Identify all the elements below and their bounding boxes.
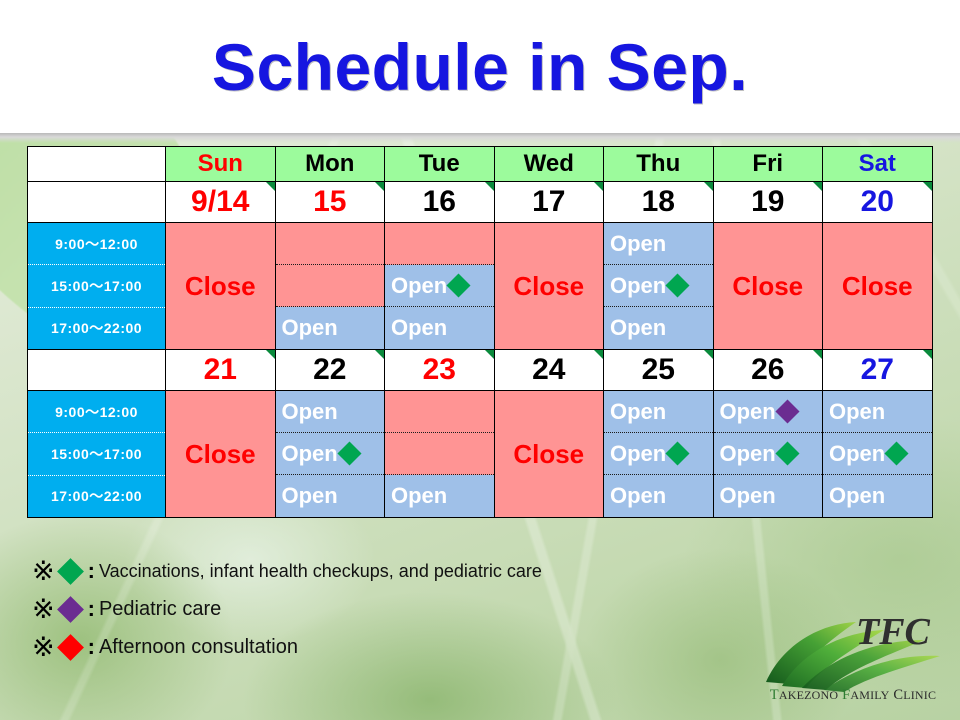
legend-row-1: ※:Vaccinations, infant health checkups, … <box>32 552 692 590</box>
corner-marker-icon <box>813 182 822 191</box>
slot-3-open[interactable]: Open <box>714 475 823 517</box>
logo-name-amily: AMILY <box>850 688 889 702</box>
clinic-logo: TFC TAKEZONO FAMILY CLINIC <box>760 606 946 710</box>
date-cell-26: 26 <box>713 350 823 391</box>
slide-canvas: Schedule in Sep. SunMonTueWedThuFriSat9/… <box>0 0 960 720</box>
schedule-cell-mon-22[interactable]: OpenOpenOpen <box>275 391 385 518</box>
slot-3-open[interactable]: Open <box>276 307 385 349</box>
date-label: 27 <box>861 353 894 386</box>
date-cell-22: 22 <box>275 350 385 391</box>
date-label: 23 <box>423 353 456 386</box>
date-cell-17: 17 <box>494 182 604 223</box>
schedule-cell-mon-15[interactable]: Open <box>275 223 385 350</box>
slot-label: Open <box>720 401 776 423</box>
schedule-cell-thu-25[interactable]: OpenOpenOpen <box>604 391 714 518</box>
slot-label: Open <box>282 443 338 465</box>
slot-label: Open <box>610 317 666 339</box>
legend-row-3: ※:Afternoon consultation <box>32 628 692 666</box>
schedule-cell-wed-17[interactable]: Close <box>494 223 604 350</box>
time-label-1: 9:00〜12:00 <box>28 391 165 433</box>
slot-label: Open <box>391 485 447 507</box>
corner-marker-icon <box>375 350 384 359</box>
time-label-2: 15:00〜17:00 <box>28 265 165 307</box>
corner-marker-icon <box>485 350 494 359</box>
logo-name-c: C <box>893 687 903 703</box>
corner-marker-icon <box>704 182 713 191</box>
slot-2-open[interactable]: Open <box>276 433 385 475</box>
diamond-green-icon <box>885 441 909 465</box>
reference-mark-icon: ※ <box>32 558 55 585</box>
logo-clinic-name: TAKEZONO FAMILY CLINIC <box>760 687 946 704</box>
corner-marker-icon <box>485 182 494 191</box>
slot-label: Open <box>829 443 885 465</box>
corner-marker-icon <box>375 182 384 191</box>
slot-2-open[interactable]: Open <box>714 433 823 475</box>
slot-2-open[interactable]: Open <box>604 265 713 307</box>
reference-mark-icon: ※ <box>32 596 55 623</box>
corner-marker-icon <box>594 182 603 191</box>
legend-row-2: ※:Pediatric care <box>32 590 692 628</box>
corner-marker-icon <box>923 350 932 359</box>
slot-label: Open <box>829 485 885 507</box>
day-header-tue: Tue <box>385 147 495 182</box>
table-corner-cell <box>28 147 166 182</box>
slot-label: Open <box>282 317 338 339</box>
date-cell-16: 16 <box>385 182 495 223</box>
slot-1-open[interactable]: Open <box>276 391 385 433</box>
closed-all-day-label: Close <box>495 391 604 517</box>
slot-stack: OpenOpenOpen <box>276 391 385 517</box>
date-row-blank-cell <box>28 182 166 223</box>
corner-marker-icon <box>266 182 275 191</box>
slot-stack: OpenOpenOpen <box>604 391 713 517</box>
date-cell-25: 25 <box>604 350 714 391</box>
date-cell-15: 15 <box>275 182 385 223</box>
date-label: 16 <box>423 185 456 218</box>
time-label-1: 9:00〜12:00 <box>28 223 165 265</box>
date-cell-27: 27 <box>823 350 933 391</box>
schedule-cell-wed-24[interactable]: Close <box>494 391 604 518</box>
time-slot-stack: 9:00〜12:0015:00〜17:0017:00〜22:00 <box>28 391 165 517</box>
day-header-sat: Sat <box>823 147 933 182</box>
date-cell-23: 23 <box>385 350 495 391</box>
date-label: 24 <box>532 353 565 386</box>
slot-2-open[interactable]: Open <box>385 265 494 307</box>
slot-stack: OpenOpenOpen <box>714 391 823 517</box>
date-label: 20 <box>861 185 894 218</box>
legend-text-2: Pediatric care <box>99 598 221 621</box>
diamond-green-icon <box>775 441 799 465</box>
closed-all-day-label: Close <box>166 391 275 517</box>
title-banner-shadow <box>0 133 960 143</box>
slot-label: Open <box>282 401 338 423</box>
time-slot-column: 9:00〜12:0015:00〜17:0017:00〜22:00 <box>28 391 166 518</box>
date-label: 21 <box>204 353 237 386</box>
slot-3-open[interactable]: Open <box>276 475 385 517</box>
time-label-3: 17:00〜22:00 <box>28 308 165 349</box>
day-header-thu: Thu <box>604 147 714 182</box>
schedule-cell-sat-20[interactable]: Close <box>823 223 933 350</box>
date-label: 9/14 <box>191 185 249 218</box>
date-cell-20: 20 <box>823 182 933 223</box>
legend-separator: : <box>88 558 95 584</box>
slot-1-open[interactable]: Open <box>604 391 713 433</box>
slot-1-open[interactable]: Open <box>604 223 713 265</box>
corner-marker-icon <box>594 350 603 359</box>
schedule-cell-fri-26[interactable]: OpenOpenOpen <box>713 391 823 518</box>
diamond-green-icon <box>666 273 690 297</box>
schedule-cell-sun-21[interactable]: Close <box>166 391 276 518</box>
slot-1-closed[interactable] <box>385 223 494 265</box>
slot-3-open[interactable]: Open <box>604 475 713 517</box>
slot-1-open[interactable]: Open <box>714 391 823 433</box>
schedule-cell-thu-18[interactable]: OpenOpenOpen <box>604 223 714 350</box>
diamond-green-icon <box>337 441 361 465</box>
corner-marker-icon <box>813 350 822 359</box>
diamond-green-icon <box>447 273 471 297</box>
corner-marker-icon <box>266 350 275 359</box>
legend-text-3: Afternoon consultation <box>99 636 298 659</box>
date-label: 18 <box>642 185 675 218</box>
schedule-cell-tue-23[interactable]: Open <box>385 391 495 518</box>
time-slot-stack: 9:00〜12:0015:00〜17:0017:00〜22:00 <box>28 223 165 349</box>
slot-label: Open <box>391 317 447 339</box>
date-row-blank-cell <box>28 350 166 391</box>
slot-label: Open <box>610 275 666 297</box>
slot-2-open[interactable]: Open <box>823 433 932 475</box>
slot-label: Open <box>829 401 885 423</box>
slot-3-open[interactable]: Open <box>823 475 932 517</box>
diamond-purple-icon <box>775 399 799 423</box>
slot-stack: Open <box>276 223 385 349</box>
date-label: 26 <box>751 353 784 386</box>
slot-stack: OpenOpen <box>385 223 494 349</box>
time-label-2: 15:00〜17:00 <box>28 433 165 475</box>
slot-label: Open <box>610 233 666 255</box>
legend-separator: : <box>88 634 95 660</box>
closed-all-day-label: Close <box>495 223 604 349</box>
date-label: 19 <box>751 185 784 218</box>
schedule-cell-sun-9-14[interactable]: Close <box>166 223 276 350</box>
legend: ※:Vaccinations, infant health checkups, … <box>32 552 692 666</box>
schedule-table-container: SunMonTueWedThuFriSat9/141516171819209:0… <box>27 146 932 518</box>
diamond-purple-icon <box>57 596 84 623</box>
svg-text:TFC: TFC <box>856 611 931 653</box>
logo-name-akezono: AKEZONO <box>779 688 838 702</box>
corner-marker-icon <box>923 182 932 191</box>
slot-stack: Open <box>385 391 494 517</box>
corner-marker-icon <box>704 350 713 359</box>
slot-1-open[interactable]: Open <box>823 391 932 433</box>
slot-3-open[interactable]: Open <box>385 307 494 349</box>
time-label-3: 17:00〜22:00 <box>28 476 165 517</box>
closed-all-day-label: Close <box>823 223 932 349</box>
date-cell-18: 18 <box>604 182 714 223</box>
slot-2-closed[interactable] <box>276 265 385 307</box>
schedule-body-row: 9:00〜12:0015:00〜17:0017:00〜22:00CloseOpe… <box>28 223 933 350</box>
date-cell-21: 21 <box>166 350 276 391</box>
slot-stack: OpenOpenOpen <box>604 223 713 349</box>
slot-label: Open <box>610 443 666 465</box>
slot-3-open[interactable]: Open <box>385 475 494 517</box>
slot-label: Open <box>720 443 776 465</box>
schedule-table: SunMonTueWedThuFriSat9/141516171819209:0… <box>27 146 933 518</box>
day-header-row: SunMonTueWedThuFriSat <box>28 147 933 182</box>
day-header-mon: Mon <box>275 147 385 182</box>
page-title: Schedule in Sep. <box>0 22 960 112</box>
slot-2-closed[interactable] <box>385 433 494 475</box>
day-header-sun: Sun <box>166 147 276 182</box>
slot-label: Open <box>720 485 776 507</box>
date-label: 15 <box>313 185 346 218</box>
slot-label: Open <box>391 275 447 297</box>
slot-stack: OpenOpenOpen <box>823 391 932 517</box>
legend-text-1: Vaccinations, infant health checkups, an… <box>99 561 542 582</box>
slot-label: Open <box>610 401 666 423</box>
slot-1-closed[interactable] <box>276 223 385 265</box>
diamond-green-icon <box>57 558 84 585</box>
schedule-cell-fri-19[interactable]: Close <box>713 223 823 350</box>
schedule-body-row: 9:00〜12:0015:00〜17:0017:00〜22:00CloseOpe… <box>28 391 933 518</box>
date-cell-24: 24 <box>494 350 604 391</box>
legend-separator: : <box>88 596 95 622</box>
reference-mark-icon: ※ <box>32 634 55 661</box>
slot-2-open[interactable]: Open <box>604 433 713 475</box>
closed-all-day-label: Close <box>166 223 275 349</box>
date-cell-9-14: 9/14 <box>166 182 276 223</box>
slot-1-closed[interactable] <box>385 391 494 433</box>
day-header-fri: Fri <box>713 147 823 182</box>
diamond-green-icon <box>666 441 690 465</box>
closed-all-day-label: Close <box>714 223 823 349</box>
slot-label: Open <box>282 485 338 507</box>
date-label: 22 <box>313 353 346 386</box>
day-header-wed: Wed <box>494 147 604 182</box>
date-row: 21222324252627 <box>28 350 933 391</box>
date-cell-19: 19 <box>713 182 823 223</box>
slot-3-open[interactable]: Open <box>604 307 713 349</box>
schedule-cell-sat-27[interactable]: OpenOpenOpen <box>823 391 933 518</box>
date-row: 9/14151617181920 <box>28 182 933 223</box>
logo-name-t: T <box>770 687 779 703</box>
diamond-red-icon <box>57 634 84 661</box>
time-slot-column: 9:00〜12:0015:00〜17:0017:00〜22:00 <box>28 223 166 350</box>
date-label: 25 <box>642 353 675 386</box>
slot-label: Open <box>610 485 666 507</box>
date-label: 17 <box>532 185 565 218</box>
schedule-cell-tue-16[interactable]: OpenOpen <box>385 223 495 350</box>
logo-name-linic: LINIC <box>903 688 936 702</box>
